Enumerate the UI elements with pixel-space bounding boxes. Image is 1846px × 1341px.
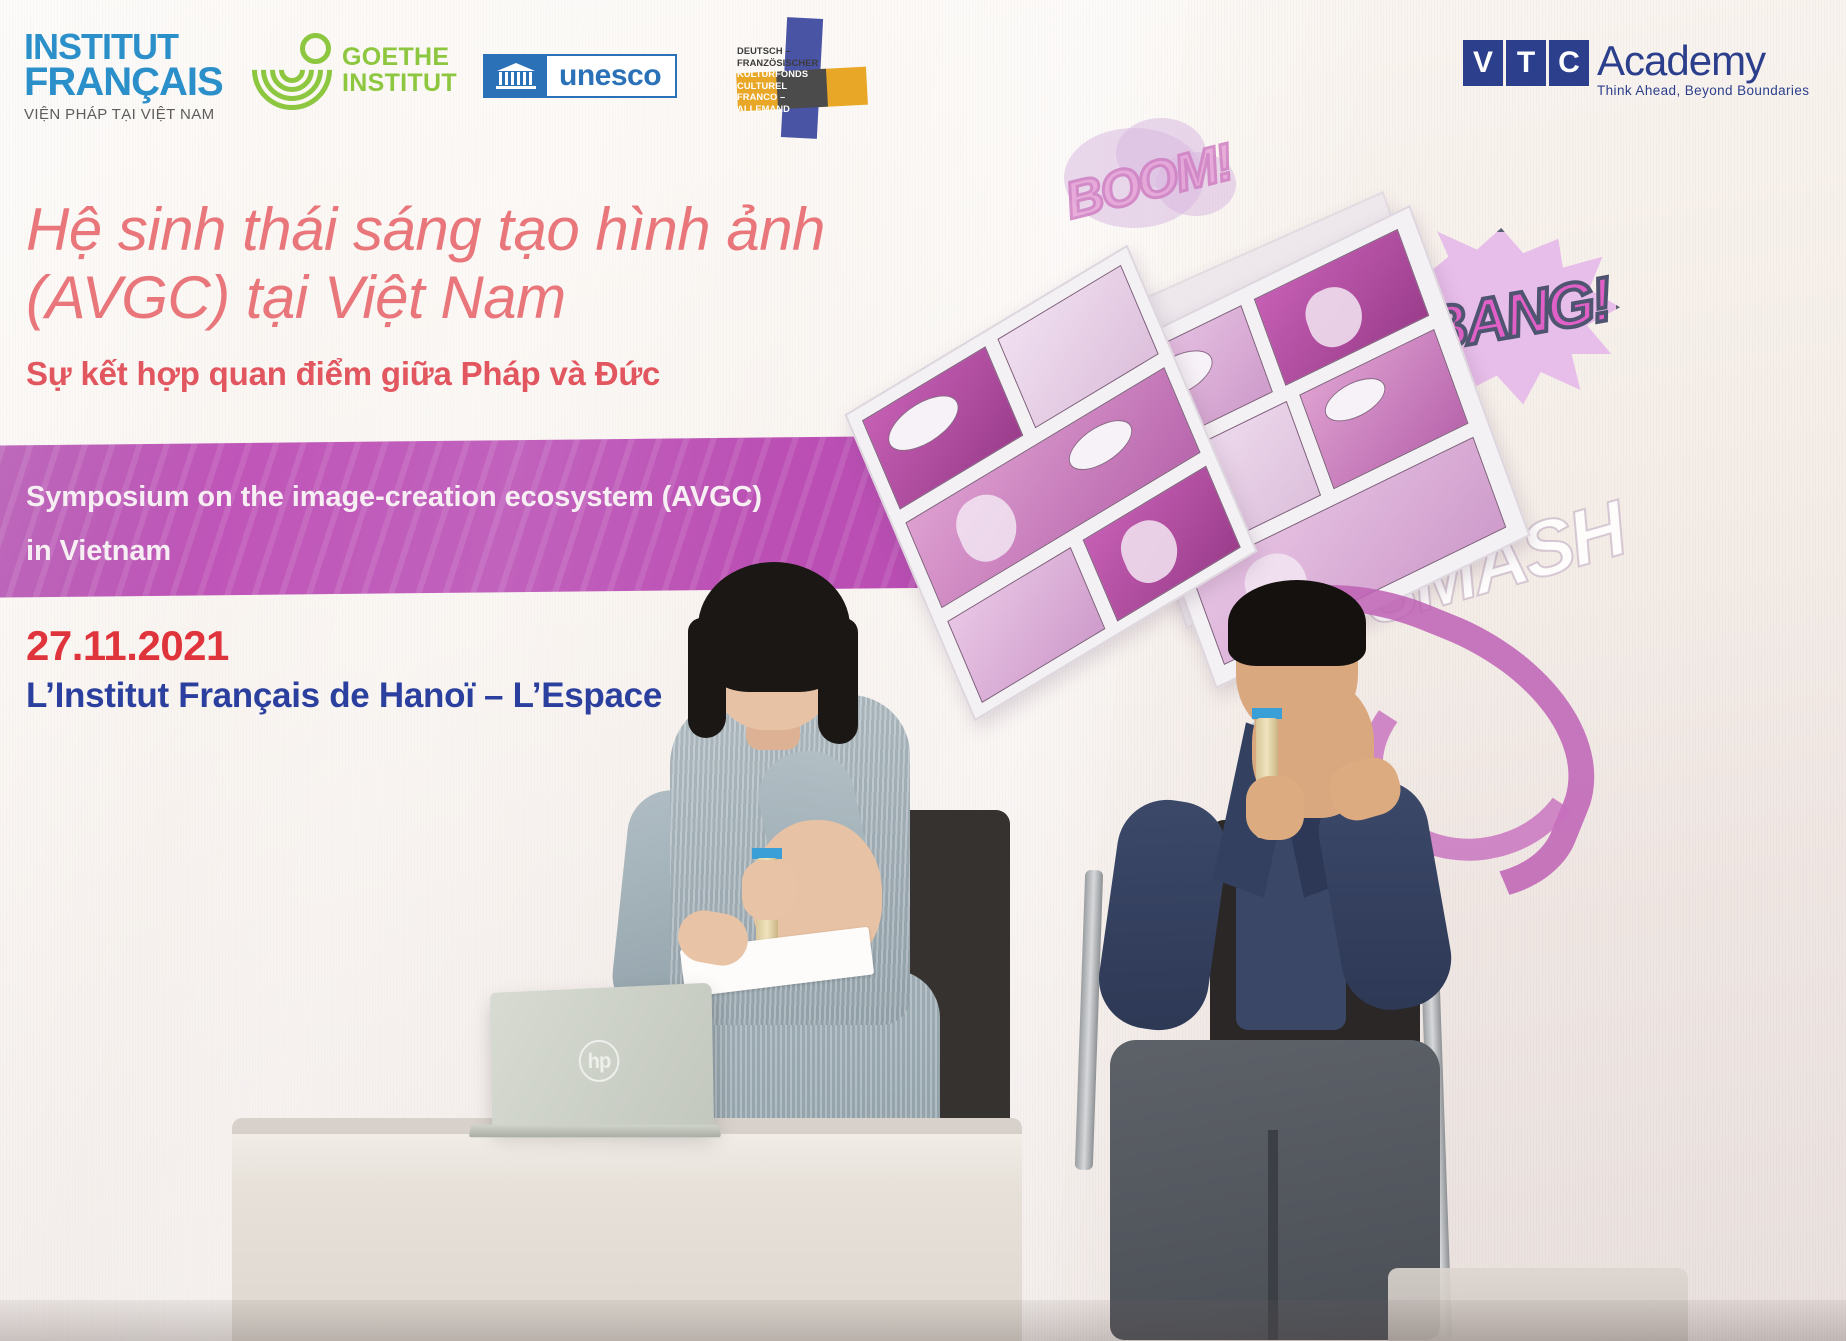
hp-laptop[interactable]: hp	[490, 983, 714, 1130]
laptop-base	[469, 1125, 721, 1138]
speaker2-hair	[1228, 580, 1366, 666]
speaker1-hand-holding-mic	[742, 860, 796, 920]
stage-foreground: hp	[0, 0, 1846, 1341]
speaker2-hand-holding-mic	[1246, 776, 1304, 840]
speaker1-hair-right	[818, 618, 858, 744]
speaker-male-panelist	[1050, 570, 1570, 1341]
floor-shadow	[0, 1300, 1846, 1341]
speaker1-hair-left	[688, 618, 726, 738]
hp-logo-icon: hp	[579, 1039, 620, 1082]
chair2-frame-left	[1075, 870, 1103, 1170]
